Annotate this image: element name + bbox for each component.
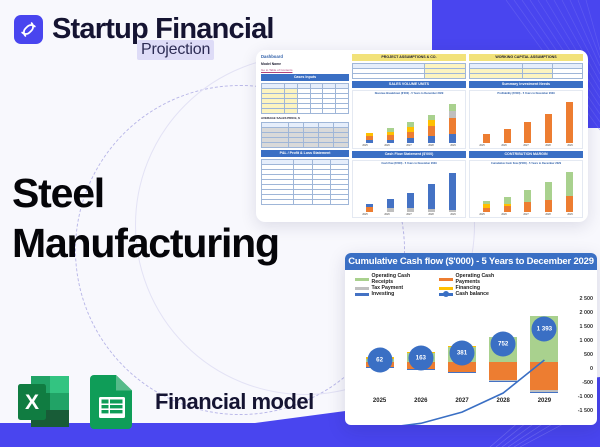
panel-header-investment: Summary Investment Needs — [469, 81, 583, 88]
mini-bar — [483, 201, 490, 212]
legend-swatch — [439, 278, 453, 281]
y-axis-tick: 2 500 — [580, 296, 594, 302]
mini-bar — [566, 102, 573, 142]
legend-item-operating-cash-receipts[interactable]: Operating Cash Receipts — [355, 273, 433, 285]
pnl-table — [261, 159, 349, 205]
legend-label: Cash balance — [456, 291, 489, 297]
mini-chart-revenue-breakdown[interactable]: Revenue Breakdown ($'000) - 5 Years to D… — [352, 90, 466, 148]
panel-header-working-capital: WORKING CAPITAL ASSUMPTIONS — [469, 54, 583, 61]
dashboard-right-column: WORKING CAPITAL ASSUMPTIONS Summary Inve… — [469, 54, 583, 218]
y-axis-tick: 2 000 — [580, 310, 594, 316]
chart-title: Cumulative Cash flow ($'000) - 5 Years t… — [345, 253, 597, 270]
google-sheets-icon — [88, 373, 136, 431]
panel-header-cashflow: Cash Flow Statement ($'000) — [352, 151, 466, 158]
legend-line-marker — [439, 293, 453, 296]
mini-bar — [504, 197, 511, 212]
panel-header-pnl: P&L / Profit & Loss Statement — [261, 150, 349, 157]
legend-swatch — [355, 278, 369, 281]
y-axis-tick: 1 000 — [580, 338, 594, 344]
mini-bar — [387, 199, 394, 212]
legend-swatch — [355, 293, 369, 296]
chart-legend: Operating Cash Receipts Operating Cash P… — [345, 270, 597, 299]
y-axis-tick: -1 000 — [578, 394, 593, 400]
mini-chart-revenue-title: Revenue Breakdown ($'000) - 5 Years to D… — [353, 91, 465, 95]
y-axis-tick: -500 — [582, 380, 593, 386]
avg-price-table — [261, 122, 349, 148]
mini-bar — [428, 184, 435, 212]
legend-label: Operating Cash Payments — [456, 273, 518, 285]
panel-header-assumptions: PROJECT ASSUMPTIONS & CO. — [352, 54, 466, 61]
data-point-marker[interactable]: 163 — [408, 345, 433, 370]
legend-item-operating-cash-payments[interactable]: Operating Cash Payments — [439, 273, 517, 285]
mini-chart-cumulative-cashflow[interactable]: Cumulative Cash flow ($'000) - 5 Years t… — [469, 160, 583, 218]
cumulative-cashflow-chart-card[interactable]: Cumulative Cash flow ($'000) - 5 Years t… — [345, 253, 597, 425]
format-label: Financial model — [155, 389, 314, 415]
mini-chart-profitability-xaxis: 20252026202720282029 — [471, 144, 581, 147]
data-point-marker[interactable]: 1 393 — [532, 317, 557, 342]
dashboard-thumb-title: Dashboard — [261, 54, 349, 60]
format-badges: X Financial model — [15, 373, 314, 431]
key-indicators-table — [469, 63, 583, 79]
mini-chart-revenue-bars — [359, 100, 463, 142]
mini-chart-cumulative-bars — [476, 170, 580, 212]
data-point-marker[interactable]: 62 — [367, 348, 392, 373]
mini-bar — [524, 190, 531, 212]
chart-y-axis: 2 5002 0001 5001 0005000-500-1 000-1 500 — [567, 299, 593, 411]
legend-item-investing[interactable]: Investing — [355, 291, 433, 297]
mini-bar — [387, 128, 394, 142]
mini-chart-cashflow-bars — [359, 170, 463, 212]
legend-label: Operating Cash Receipts — [372, 273, 434, 285]
page-title-line-1: Steel — [12, 168, 279, 218]
y-axis-tick: 1 500 — [580, 324, 594, 330]
data-point-marker[interactable]: 752 — [491, 332, 516, 357]
data-point-marker[interactable]: 381 — [450, 340, 475, 365]
dashboard-thumbnail-card[interactable]: Dashboard Model Name Go to Table of Cont… — [256, 50, 588, 222]
panel-header-cumulative: CONTRIBUTION MARGIN — [469, 151, 583, 158]
mini-chart-profitability-bars — [476, 100, 580, 142]
mini-chart-cumulative-title: Cumulative Cash flow ($'000) - 5 Years t… — [470, 161, 582, 165]
brand-subtitle-badge: Projection — [137, 40, 214, 60]
legend-label: Investing — [372, 291, 395, 297]
mini-chart-cashflow-title: Cash flow ($'000) - 5 Years to December … — [353, 161, 465, 165]
mini-bar — [407, 122, 414, 142]
legend-swatch — [355, 287, 369, 290]
legend-swatch — [439, 287, 453, 290]
mini-bar — [366, 204, 373, 212]
panel-header-sales-volume: SALES VOLUME UNITS — [352, 81, 466, 88]
chart-bars-area: 621633817521 393 — [359, 303, 565, 397]
excel-glyph: X — [25, 391, 39, 414]
mini-chart-cumulative-xaxis: 20252026202720282029 — [471, 213, 581, 216]
mini-chart-profitability-title: Profitability ($'000) - 5 Years to Decem… — [470, 91, 582, 95]
dashboard-left-column: Dashboard Model Name Go to Table of Cont… — [261, 54, 349, 218]
mini-bar — [428, 115, 435, 143]
sales-volume-table — [261, 83, 349, 114]
mini-bar — [483, 134, 490, 142]
mini-chart-cashflow[interactable]: Cash flow ($'000) - 5 Years to December … — [352, 160, 466, 218]
dashboard-toc-link[interactable]: Go to Table of Contents — [261, 68, 349, 72]
page-title-line-2: Manufacturing — [12, 218, 279, 268]
mini-bar — [366, 133, 373, 142]
dashboard-middle-column: PROJECT ASSUMPTIONS & CO. SALES VOLUME U… — [352, 54, 466, 218]
assumptions-table — [352, 63, 466, 79]
mini-bar — [566, 172, 573, 212]
y-axis-tick: 0 — [590, 366, 593, 372]
y-axis-tick: -1 500 — [578, 408, 593, 414]
y-axis-tick: 500 — [584, 352, 593, 358]
page-title: Steel Manufacturing — [12, 168, 279, 268]
dashboard-thumb-subtitle: Model Name — [261, 62, 349, 66]
mini-chart-profitability[interactable]: Profitability ($'000) - 5 Years to Decem… — [469, 90, 583, 148]
legend-item-cash-balance[interactable]: Cash balance — [439, 291, 517, 297]
mini-bar — [449, 173, 456, 212]
mini-bar — [524, 122, 531, 142]
mini-bar — [545, 114, 552, 143]
panel-header-cases: Cases Inputs — [261, 74, 349, 81]
mini-chart-revenue-xaxis: 20252026202720282029 — [354, 144, 464, 147]
chart-plot-area: 2 5002 0001 5001 0005000-500-1 000-1 500… — [347, 299, 595, 411]
microsoft-excel-icon: X — [15, 373, 73, 431]
mini-bar — [407, 193, 414, 212]
panel-header-pricing: AVERAGE SALES PRICE, $ — [261, 116, 349, 120]
mini-bar — [504, 129, 511, 143]
mini-bar — [545, 182, 552, 212]
mini-bar — [449, 103, 456, 142]
swirl-e-logo-icon — [14, 15, 43, 44]
mini-chart-cashflow-xaxis: 20252026202720282029 — [354, 213, 464, 216]
